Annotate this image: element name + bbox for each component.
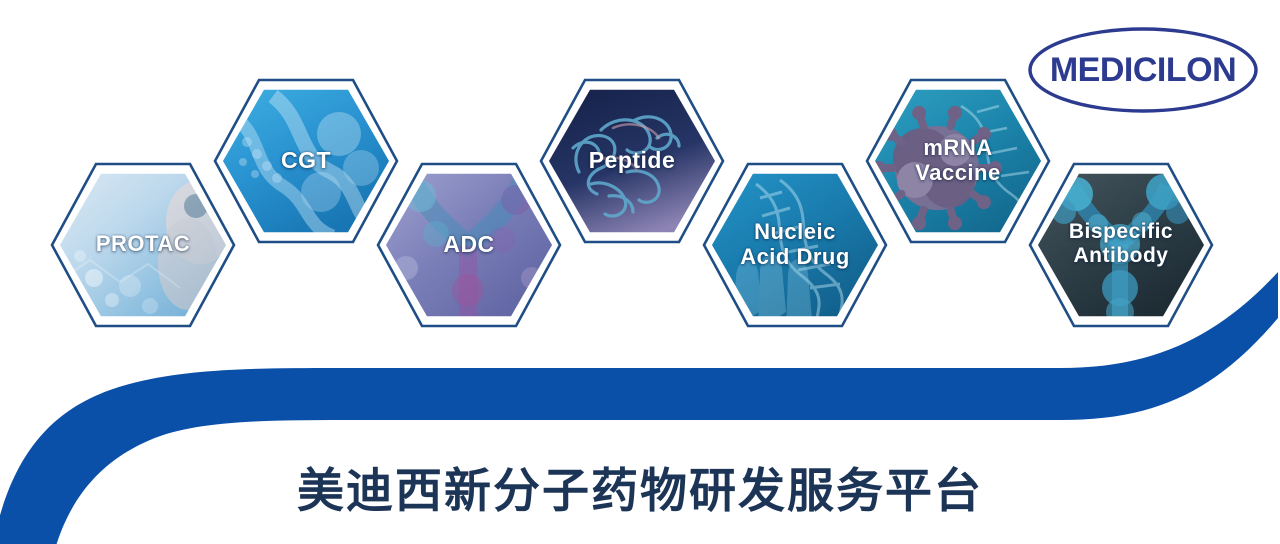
poster-canvas: PROTAC [0, 0, 1280, 544]
medicilon-logo[interactable]: MEDICILON [1022, 24, 1264, 116]
hexagon-cgt[interactable]: CGT [213, 76, 399, 246]
page-title: 美迪西新分子药物研发服务平台 [0, 452, 1280, 521]
medicilon-logo-text: MEDICILON [1022, 24, 1264, 116]
hexagon-nucleic-acid-drug[interactable]: Nucleic Acid Drug [702, 160, 888, 330]
hexagon-adc[interactable]: ADC [376, 160, 562, 330]
hexagon-bispecific-antibody[interactable]: Bispecific Antibody [1028, 160, 1214, 330]
hexagon-peptide[interactable]: Peptide [539, 76, 725, 246]
hexagon-protac[interactable]: PROTAC [50, 160, 236, 330]
